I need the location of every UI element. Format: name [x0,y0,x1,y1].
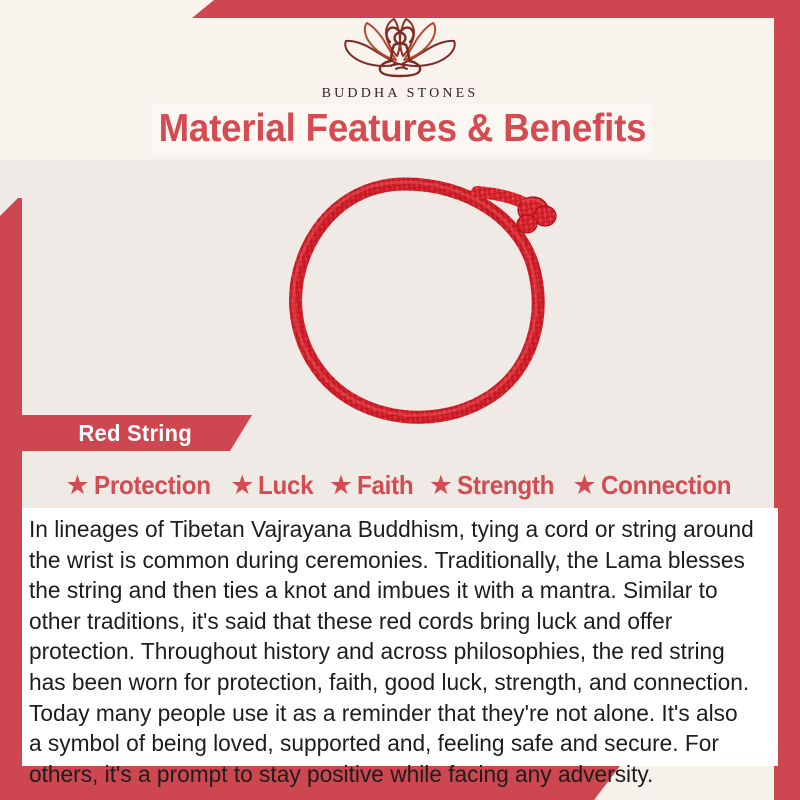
lotus-meditation-icon [334,16,466,82]
description-card: In lineages of Tibetan Vajrayana Buddhis… [22,508,778,766]
material-tag: Red String [22,415,252,451]
star-icon: ★ [230,472,254,499]
left-red-bar-decoration [0,198,22,800]
star-icon: ★ [572,472,596,499]
title-banner: Material Features & Benefits [152,104,652,154]
benefit-label: Protection [94,470,211,501]
star-icon: ★ [329,472,353,499]
star-icon: ★ [429,472,453,499]
description-paragraph: In lineages of Tibetan Vajrayana Buddhis… [29,514,755,789]
brand-logo: BUDDHA STONES [0,16,800,102]
benefit-label: Strength [457,470,554,501]
benefit-label: Luck [258,470,313,501]
product-image-red-string-bracelet [215,168,595,428]
brand-name: BUDDHA STONES [322,86,479,102]
benefit-item: ★ Connection [572,470,740,501]
page-title: Material Features & Benefits [158,107,646,151]
benefit-label: Faith [357,470,413,501]
material-tag-label: Red String [78,420,192,447]
benefit-item: ★ Protection [65,470,219,501]
benefit-item: ★ Faith [329,470,418,501]
benefit-item: ★ Strength [429,470,562,501]
benefit-item: ★ Luck [230,470,318,501]
infographic-page: BUDDHA STONES Material Features & Benefi… [0,0,800,800]
bracelet-knot [517,197,556,233]
benefit-label: Connection [601,470,731,501]
benefits-list: ★ Protection ★ Luck ★ Faith ★ Strength ★… [40,466,766,504]
star-icon: ★ [65,472,89,499]
